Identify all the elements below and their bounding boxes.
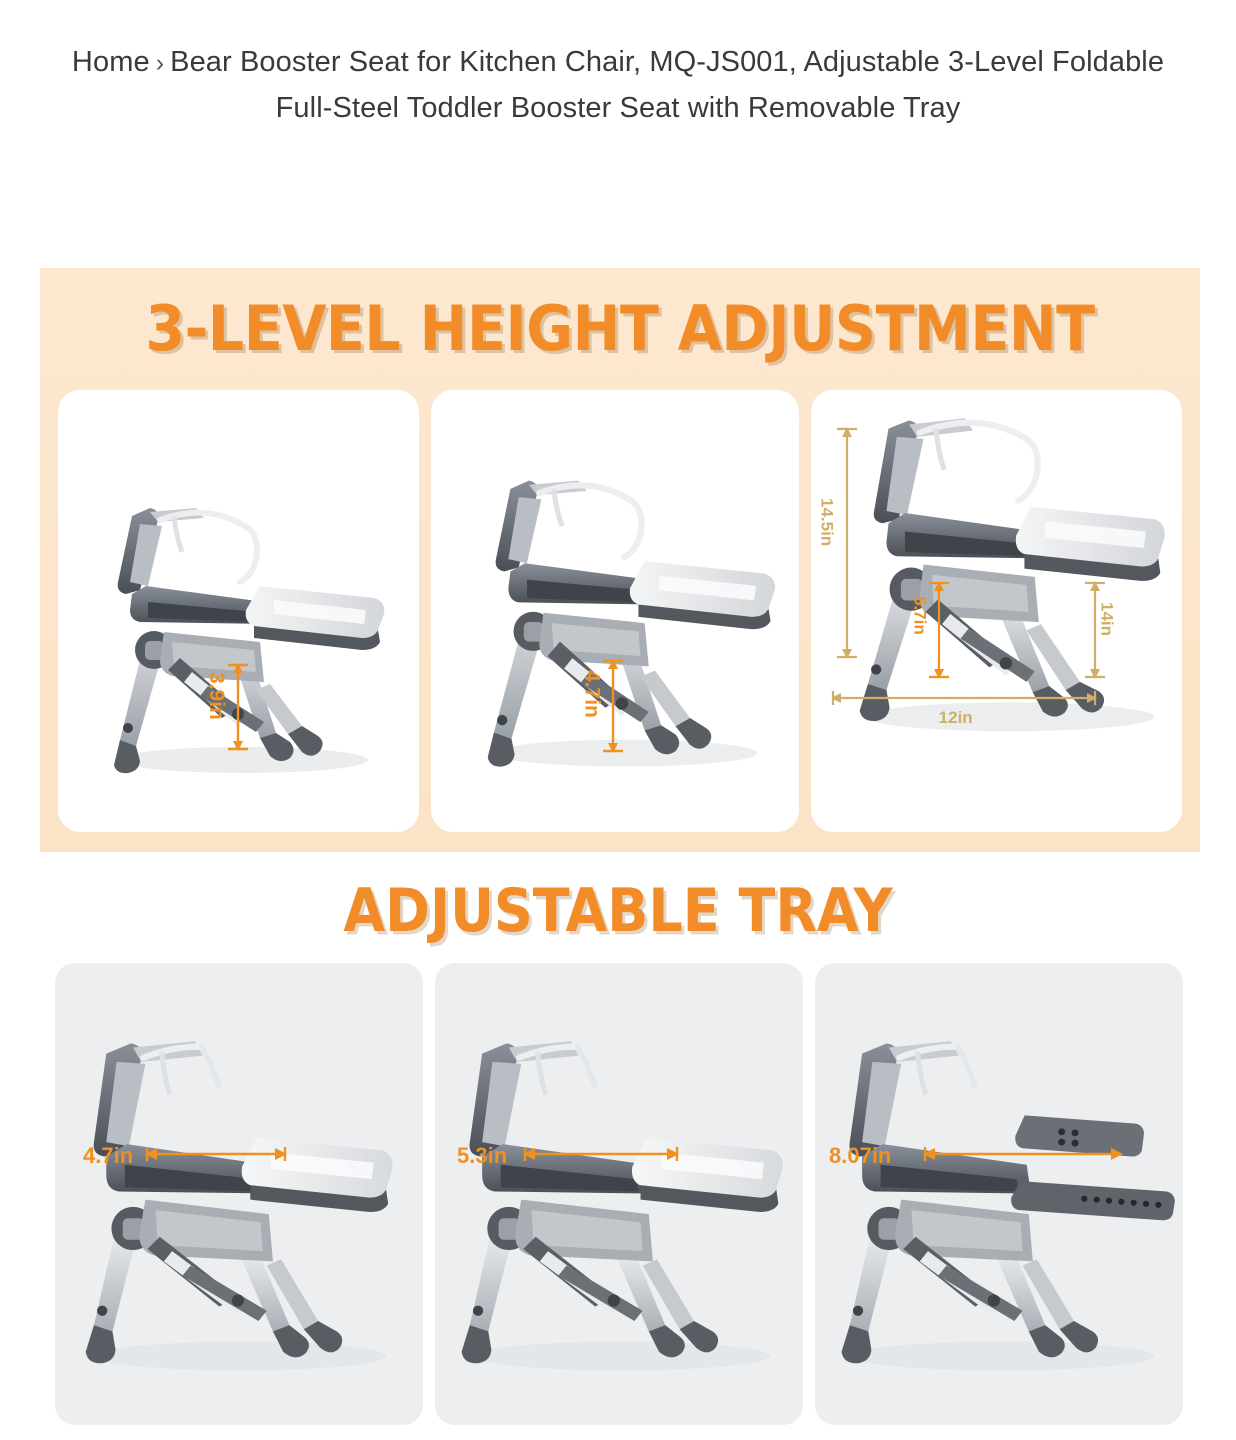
adjustable-tray-title: ADJUSTABLE TRAY — [0, 876, 1236, 945]
height-adjustment-title: 3-LEVEL HEIGHT ADJUSTMENT — [28, 268, 1211, 365]
measurement-39in: 3.9in — [206, 662, 252, 748]
height-panel-level-2[interactable]: 4.7in — [431, 390, 798, 832]
tray-panel-position-3[interactable]: 8.07in — [815, 963, 1183, 1425]
measurement-47in-height: 4.7in — [581, 658, 627, 750]
height-panels-row: 3.9in — [40, 390, 1200, 832]
measurement-12in: 12in — [829, 690, 1099, 713]
chair-illustration-tray-3 — [827, 1031, 1177, 1391]
breadcrumb: Home›Bear Booster Seat for Kitchen Chair… — [0, 0, 1236, 132]
measurement-47in-tray: 4.7in — [83, 1146, 293, 1167]
height-adjustment-banner: 3-LEVEL HEIGHT ADJUSTMENT — [40, 268, 1200, 852]
measurement-57in: 5.7in — [915, 580, 949, 676]
measurement-807in-tray: 8.07in — [829, 1146, 1129, 1167]
product-detail-page: Home›Bear Booster Seat for Kitchen Chair… — [0, 0, 1236, 1440]
tray-panel-position-1[interactable]: 4.7in — [55, 963, 423, 1425]
measurement-14in: 14in — [1083, 580, 1117, 676]
breadcrumb-current-product: Bear Booster Seat for Kitchen Chair, MQ-… — [170, 46, 1164, 124]
measurement-53in-tray: 5.3in — [457, 1146, 687, 1167]
chair-illustration-tray-1 — [75, 1031, 405, 1391]
tray-panels-row: 4.7in — [55, 963, 1185, 1425]
chair-illustration-tray-2 — [451, 1031, 791, 1391]
height-panel-level-3[interactable]: 14.5in 5.7in — [811, 390, 1182, 832]
measurement-145in: 14.5in — [823, 426, 857, 656]
breadcrumb-home-link[interactable]: Home — [72, 46, 150, 78]
height-panel-level-1[interactable]: 3.9in — [58, 390, 419, 832]
tray-panel-position-2[interactable]: 5.3in — [435, 963, 803, 1425]
breadcrumb-separator-icon: › — [150, 49, 170, 77]
